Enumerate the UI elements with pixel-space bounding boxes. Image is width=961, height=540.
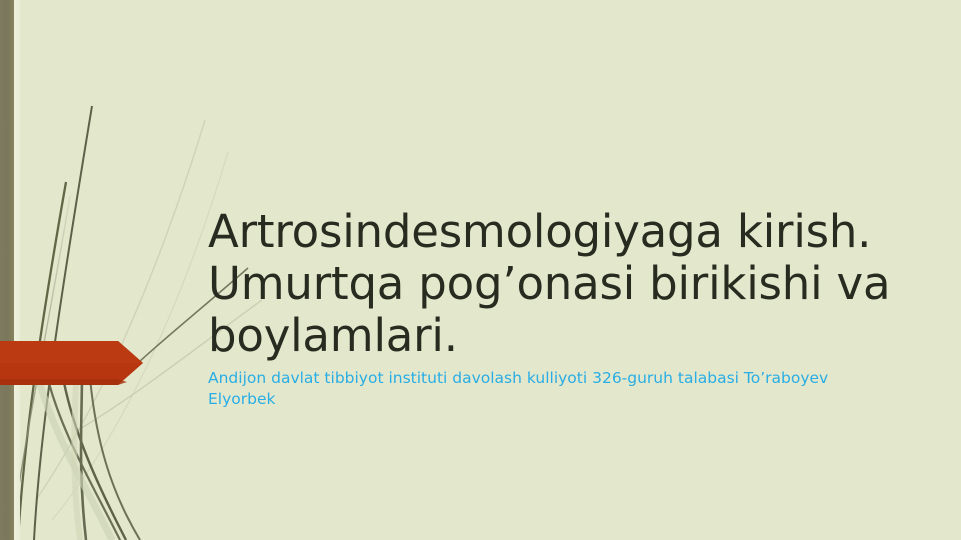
left-edge-highlight	[14, 0, 20, 540]
presentation-slide: Artrosindesmologiyaga kirish. Umurtqa po…	[0, 0, 961, 540]
slide-subtitle: Andijon davlat tibbiyot instituti davola…	[208, 368, 892, 410]
slide-text-block: Artrosindesmologiyaga kirish. Umurtqa po…	[208, 206, 898, 410]
orange-arrow-banner	[0, 341, 144, 385]
page-title: Artrosindesmologiyaga kirish. Umurtqa po…	[208, 206, 898, 362]
left-edge-bar	[0, 0, 14, 540]
